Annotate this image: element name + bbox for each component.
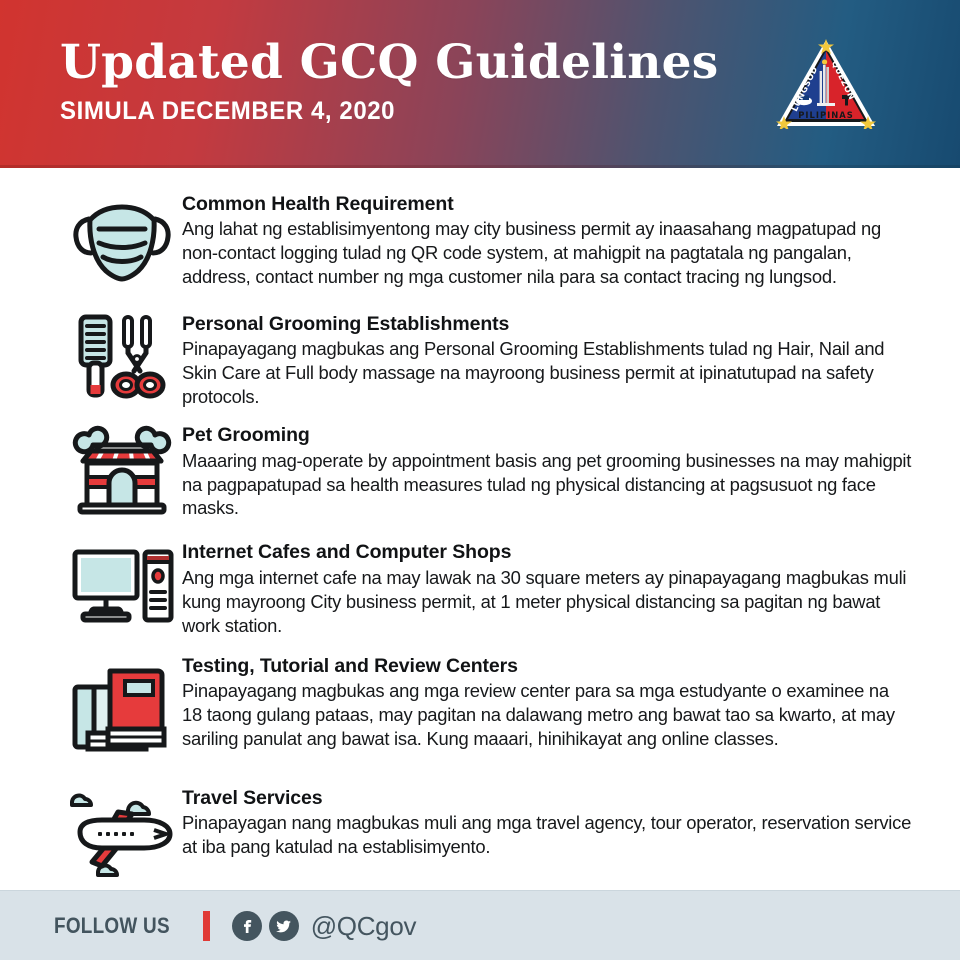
follow-us-label: FOLLOW US: [54, 913, 170, 939]
comb-and-scissors-icon: [62, 306, 182, 406]
pet-shop-icon: [62, 417, 182, 517]
airplane-icon: [62, 780, 182, 884]
guideline-body: Maaaring mag-operate by appointment basi…: [182, 449, 912, 521]
guideline-text: Pet Grooming Maaaring mag-operate by app…: [182, 417, 912, 520]
social-links: [232, 911, 299, 941]
guideline-body: Pinapayagang magbukas ang Personal Groom…: [182, 337, 912, 409]
infographic-poster: Updated GCQ Guidelines SIMULA DECEMBER 4…: [0, 0, 960, 960]
books-icon: [62, 648, 182, 766]
guideline-item: Common Health Requirement Ang lahat ng e…: [0, 186, 960, 296]
guideline-text: Testing, Tutorial and Review Centers Pin…: [182, 648, 912, 751]
guidelines-list: Common Health Requirement Ang lahat ng e…: [0, 168, 960, 890]
guideline-item: Internet Cafes and Computer Shops Ang mg…: [0, 534, 960, 637]
poster-header: Updated GCQ Guidelines SIMULA DECEMBER 4…: [0, 0, 960, 168]
guideline-text: Travel Services Pinapayagan nang magbuka…: [182, 780, 912, 859]
desktop-computer-icon: [62, 534, 182, 634]
guideline-title: Pet Grooming: [182, 424, 912, 446]
guideline-title: Common Health Requirement: [182, 193, 912, 215]
social-handle: @QCgov: [311, 911, 417, 942]
guideline-item: Testing, Tutorial and Review Centers Pin…: [0, 648, 960, 766]
guideline-title: Personal Grooming Establishments: [182, 313, 912, 335]
facebook-icon[interactable]: [232, 911, 262, 941]
page-subtitle: SIMULA DECEMBER 4, 2020: [60, 97, 745, 126]
guideline-body: Pinapayagan nang magbukas muli ang mga t…: [182, 811, 912, 859]
guideline-body: Pinapayagang magbukas ang mga review cen…: [182, 679, 912, 751]
twitter-icon[interactable]: [269, 911, 299, 941]
guideline-body: Ang mga internet cafe na may lawak na 30…: [182, 566, 912, 638]
page-title: Updated GCQ Guidelines: [60, 39, 774, 87]
guideline-title: Travel Services: [182, 787, 912, 809]
guideline-text: Personal Grooming Establishments Pinapay…: [182, 306, 912, 409]
guideline-title: Testing, Tutorial and Review Centers: [182, 655, 912, 677]
guideline-body: Ang lahat ng establisimyentong may city …: [182, 217, 912, 289]
poster-footer: FOLLOW US @QCgov: [0, 890, 960, 960]
guideline-item: Pet Grooming Maaaring mag-operate by app…: [0, 417, 960, 520]
quezon-city-seal: LUNGSOD QUEZON PILIPINAS: [774, 37, 878, 129]
footer-divider: [203, 911, 210, 941]
guideline-item: Personal Grooming Establishments Pinapay…: [0, 306, 960, 409]
guideline-text: Common Health Requirement Ang lahat ng e…: [182, 186, 912, 289]
guideline-item: Travel Services Pinapayagan nang magbuka…: [0, 780, 960, 884]
header-text-block: Updated GCQ Guidelines SIMULA DECEMBER 4…: [60, 39, 774, 127]
svg-text:PILIPINAS: PILIPINAS: [798, 110, 853, 120]
face-mask-icon: [62, 186, 182, 296]
guideline-title: Internet Cafes and Computer Shops: [182, 541, 912, 563]
guideline-text: Internet Cafes and Computer Shops Ang mg…: [182, 534, 912, 637]
